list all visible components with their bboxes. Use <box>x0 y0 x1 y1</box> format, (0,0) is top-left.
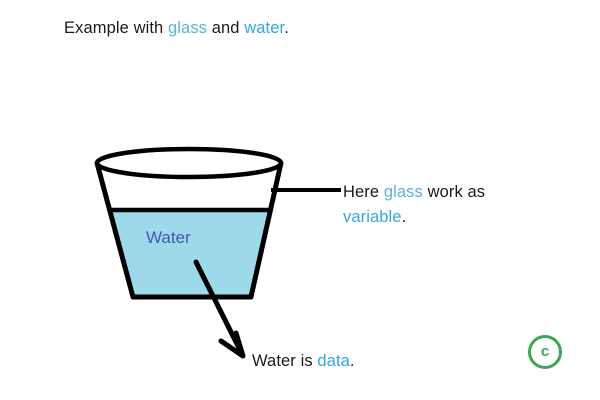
brand-letter: c <box>528 335 562 369</box>
annotation-line1-prefix: Here <box>343 183 384 201</box>
water-caption-text: Water is data. <box>252 352 355 371</box>
heading-suffix: . <box>284 19 289 37</box>
water-label: Water <box>146 228 191 248</box>
brand-logo: c <box>528 335 562 369</box>
glass-callout-text: Here glass work asvariable. <box>343 180 485 230</box>
annotation-line2: variable. <box>343 205 485 230</box>
annotation-line1-suffix: work as <box>423 183 485 201</box>
caption-suffix: . <box>350 352 355 370</box>
heading-keyword-glass: glass <box>168 19 207 37</box>
annotation-keyword-glass: glass <box>384 183 423 201</box>
glass-rim <box>97 149 281 177</box>
caption-prefix: Water is <box>252 352 317 370</box>
annotation-line2-suffix: . <box>402 208 407 226</box>
heading-middle: and <box>207 19 244 37</box>
annotation-keyword-variable: variable <box>343 208 402 226</box>
page-title: Example with glass and water. <box>64 19 289 38</box>
water-fill <box>111 210 268 296</box>
diagram-canvas <box>0 0 600 400</box>
caption-keyword-data: data <box>317 352 350 370</box>
heading-keyword-water: water <box>244 19 284 37</box>
heading-prefix: Example with <box>64 19 168 37</box>
